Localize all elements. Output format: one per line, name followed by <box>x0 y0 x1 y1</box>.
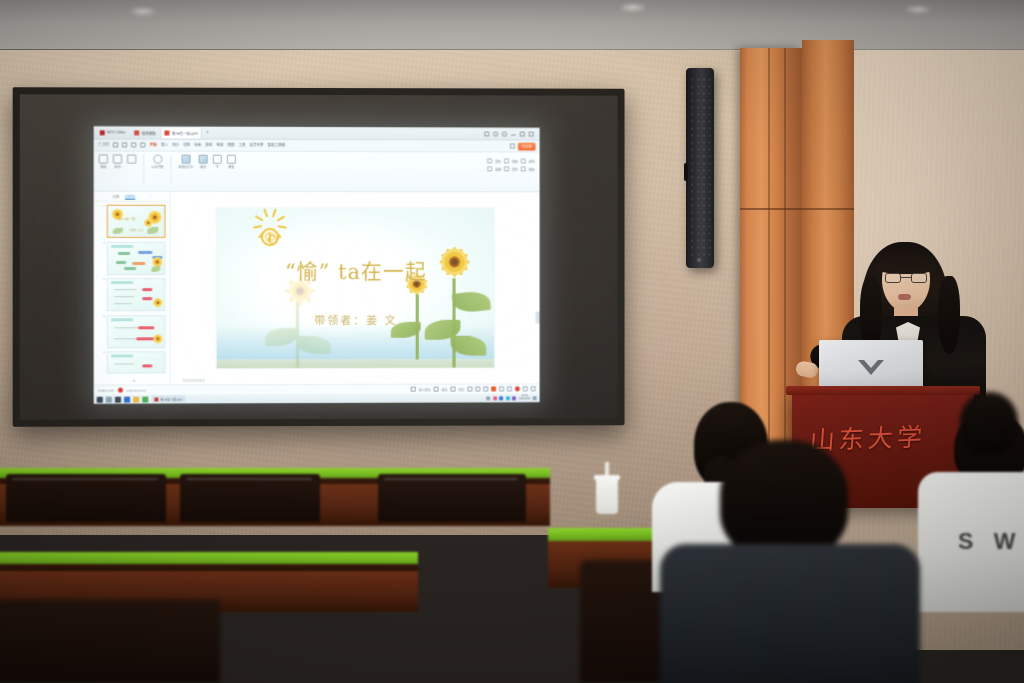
format-painter-button[interactable] <box>127 154 136 163</box>
restore-icon[interactable] <box>484 131 489 136</box>
add-slide-button[interactable]: + <box>101 377 168 385</box>
slide-number: 3 <box>101 278 105 282</box>
slideshow-icon[interactable] <box>491 386 496 391</box>
paste-icon <box>99 154 108 163</box>
slide-thumbnail-1[interactable]: “愉” ta在一起 带领者：姜 文 <box>106 205 165 238</box>
shape-icon[interactable] <box>504 166 509 171</box>
ceiling <box>0 0 1024 52</box>
ribbon-tab-member[interactable]: 会员专享 <box>249 143 263 148</box>
input-method-icon[interactable] <box>500 396 504 400</box>
taskbar-clock[interactable]: 10:41 2024/4/18 <box>519 395 530 401</box>
minimize-icon[interactable] <box>511 132 516 135</box>
ceiling-light <box>620 4 646 11</box>
chevron-down-logo <box>858 360 884 375</box>
section-button[interactable]: 节 <box>213 155 222 169</box>
cloud-sync-icon[interactable] <box>510 144 515 149</box>
laptop <box>819 340 923 392</box>
ribbon-group-slides: 新建幻灯片 版式 节 重置 <box>179 155 236 188</box>
arrange-icon[interactable] <box>521 159 526 164</box>
slide-thumbnail-4[interactable] <box>106 315 165 348</box>
window-controls <box>484 131 536 136</box>
replace-label: 替换 <box>512 159 518 163</box>
explorer-icon[interactable] <box>133 396 139 402</box>
presenter-hair-right <box>938 276 960 354</box>
comment-icon[interactable] <box>411 387 416 392</box>
taskbar-app-label: 愉 ta在一起.pptx <box>160 397 182 401</box>
account-icon[interactable] <box>502 131 507 136</box>
ribbon-group-slideshow: 从头开始 <box>151 155 163 188</box>
shape-label: 形状 <box>512 167 518 171</box>
redo-icon[interactable] <box>132 142 137 147</box>
print-icon[interactable] <box>141 142 146 147</box>
slide-number: 2 <box>101 241 105 245</box>
lecture-room-scene: WPS Office 稻壳模板 愉 ta在一起.pptx + <box>0 0 1024 683</box>
ribbon-tab-review[interactable]: 审阅 <box>216 143 223 148</box>
app-tab-label: WPS Office <box>107 130 126 134</box>
ribbon-tab-design[interactable]: 设计 <box>172 143 179 148</box>
settings-icon[interactable] <box>493 131 498 136</box>
thumbnail-title: “愉” ta在一起 <box>117 217 135 221</box>
search-icon[interactable] <box>106 396 112 402</box>
comment-label[interactable]: 插入批注 <box>419 387 431 391</box>
wall-speaker-icon <box>686 68 714 268</box>
ribbon-tab-slideshow[interactable]: 放映 <box>205 143 212 148</box>
select-icon[interactable] <box>487 166 492 171</box>
slide-number: 5 <box>101 352 105 356</box>
ribbon-group-clipboard: 粘贴 剪切 <box>99 154 136 187</box>
volume-icon[interactable] <box>493 396 497 400</box>
fill-icon[interactable] <box>521 167 526 172</box>
slide-thumbnail-2[interactable] <box>106 241 165 274</box>
ppt-icon <box>165 130 170 135</box>
fill-label: 填充 <box>529 167 535 171</box>
presenter-bangs <box>876 248 936 274</box>
ribbon-divider <box>143 155 144 185</box>
app-tab-template[interactable]: 稻壳模板 <box>132 127 159 138</box>
new-slide-icon <box>182 155 191 164</box>
slide-thumbnail-5[interactable] <box>106 351 165 373</box>
app-tab-wps[interactable]: WPS Office <box>97 127 129 138</box>
arrange-label: 排列 <box>529 159 535 163</box>
maximize-icon[interactable] <box>520 131 525 136</box>
ribbon-tab-transition[interactable]: 切换 <box>183 143 190 148</box>
slide-thumbnail-pane: 大纲 幻灯片 ‹ 1 <box>94 192 171 385</box>
ribbon-group-editing: 查找 替换 排列 选择 形状 填充 <box>487 155 535 188</box>
projected-app-window: WPS Office 稻壳模板 愉 ta在一起.pptx + <box>94 126 540 404</box>
annotation-icon[interactable] <box>450 387 455 392</box>
list-item[interactable]: 1 “愉” ta在一起 带领者：姜 文 <box>101 205 168 238</box>
zoom-out-icon[interactable] <box>499 386 504 391</box>
paste-label: 粘贴 <box>100 164 106 168</box>
speaker-knob <box>684 163 688 181</box>
wechat-icon[interactable] <box>142 396 148 402</box>
audience-student-far-right <box>960 392 1024 502</box>
zoom-in-icon[interactable] <box>507 386 512 391</box>
site-icon <box>118 388 123 393</box>
head <box>960 392 1018 454</box>
ceiling-light <box>905 6 931 13</box>
slide-subtitle: 带领者：姜 文 <box>217 312 494 328</box>
cut-label: 剪切 <box>114 164 120 168</box>
ribbon-tab-tools[interactable]: 工具 <box>238 143 245 148</box>
replace-icon[interactable] <box>504 159 509 164</box>
chevron-left-icon[interactable]: ‹ <box>150 194 151 198</box>
wps-icon <box>100 130 105 135</box>
list-item[interactable]: 3 <box>101 278 168 311</box>
layout-icon <box>199 155 208 164</box>
ribbon-tab-file[interactable]: 三 文件 <box>98 142 110 147</box>
select-label: 选择 <box>495 167 501 171</box>
new-slide-label: 新建幻灯片 <box>179 165 194 169</box>
torso <box>660 544 920 683</box>
taskview-icon[interactable] <box>115 396 121 402</box>
normal-view-icon[interactable] <box>467 386 472 391</box>
podium-top-edge <box>786 386 980 395</box>
windows-start-icon[interactable] <box>97 396 103 402</box>
sun-icon <box>253 220 287 254</box>
current-slide[interactable]: “愉” ta在一起 带领者：姜 文 <box>217 208 494 368</box>
start-slideshow-label: 从头开始 <box>151 165 163 169</box>
ceiling-light <box>130 8 156 15</box>
speaker-grill <box>689 76 711 256</box>
share-status-icon[interactable] <box>523 386 528 391</box>
share-button[interactable]: 已分享 <box>518 142 536 150</box>
projection-screen: WPS Office 稻壳模板 愉 ta在一起.pptx + <box>13 87 625 427</box>
annotation-label[interactable]: 批注 <box>458 387 464 391</box>
watermark-copyright: ©2024 1/15 <box>98 388 114 392</box>
fit-icon[interactable] <box>515 386 520 391</box>
save-icon[interactable] <box>113 142 118 147</box>
notes-placeholder[interactable]: 单击此处添加备注 <box>183 378 206 382</box>
slide-thumbnail-3[interactable] <box>106 278 165 311</box>
clock-date: 2024/4/18 <box>519 397 530 400</box>
cloud-icon[interactable] <box>506 396 510 400</box>
new-tab-button[interactable]: + <box>204 130 211 136</box>
app-tab-label: 愉 ta在一起.pptx <box>172 130 198 135</box>
ribbon-tab-view[interactable]: 视图 <box>227 143 234 148</box>
wps-icon <box>154 397 158 401</box>
ribbon-tab-insert[interactable]: 插入 <box>161 143 168 148</box>
reading-view-icon[interactable] <box>483 386 488 391</box>
reset-icon <box>227 155 236 164</box>
layout-button[interactable]: 版式 <box>199 155 208 169</box>
jacket-text: S W <box>958 528 1022 555</box>
layout-label: 版式 <box>200 165 206 169</box>
note-icon[interactable] <box>434 387 439 392</box>
slide-number: 4 <box>101 315 105 319</box>
sorter-view-icon[interactable] <box>475 386 480 391</box>
tab-outline[interactable]: 大纲 <box>112 194 119 199</box>
close-icon[interactable] <box>529 131 534 136</box>
taskbar-active-app[interactable]: 愉 ta在一起.pptx <box>151 395 185 402</box>
presenter-mouth <box>898 294 911 300</box>
cut-button[interactable]: 剪切 <box>113 154 122 168</box>
head <box>720 440 848 558</box>
list-item[interactable]: 5 <box>101 351 168 373</box>
thumbnail-subtitle: 带领者：姜 文 <box>130 228 144 232</box>
app-tab-presentation[interactable]: 愉 ta在一起.pptx <box>162 127 201 138</box>
editor-work-area: 大纲 幻灯片 ‹ 1 <box>94 192 540 385</box>
thumbnail-pane-tabs: 大纲 幻灯片 ‹ <box>94 192 170 202</box>
ribbon-tab-home[interactable]: 开始 <box>150 142 157 147</box>
speaker-led <box>697 258 701 262</box>
note-label[interactable]: 备注 <box>442 387 448 391</box>
system-tray: 10:41 2024/4/18 <box>487 395 537 401</box>
edge-icon[interactable] <box>124 396 130 402</box>
pane-collapse-handle[interactable] <box>536 312 540 324</box>
undo-icon[interactable] <box>123 142 128 147</box>
section-icon <box>213 155 222 164</box>
reset-button[interactable]: 重置 <box>227 155 236 169</box>
network-icon[interactable] <box>487 396 491 400</box>
format-painter-icon <box>127 154 136 163</box>
cut-icon <box>113 154 122 163</box>
reset-label: 重置 <box>228 165 234 169</box>
ribbon-divider <box>170 155 171 185</box>
list-item[interactable]: 2 <box>101 241 168 274</box>
paste-button[interactable]: 粘贴 <box>99 154 108 168</box>
template-icon <box>135 130 140 135</box>
find-icon[interactable] <box>487 158 492 163</box>
battery-icon[interactable] <box>512 396 516 400</box>
new-slide-button[interactable]: 新建幻灯片 <box>179 155 194 169</box>
notification-icon[interactable] <box>533 396 537 400</box>
slide-title: “愉” ta在一起 <box>217 256 494 286</box>
play-icon <box>153 155 162 164</box>
windows-taskbar: 愉 ta在一起.pptx 10:41 2024/4/18 <box>94 393 540 404</box>
list-item[interactable]: 4 <box>101 315 168 348</box>
section-label: 节 <box>216 165 219 169</box>
app-tab-label: 稻壳模板 <box>142 130 156 135</box>
cloud-status-icon[interactable] <box>531 386 536 391</box>
ribbon-tab-animation[interactable]: 动画 <box>194 143 201 148</box>
tab-slides[interactable]: 幻灯片 <box>125 193 135 199</box>
status-bar-right: 插入批注 备注 批注 <box>411 386 536 391</box>
ribbon-toolbar: 粘贴 剪切 从头开始 <box>94 151 540 192</box>
ribbon-tab-toolbox[interactable]: 智能工具箱 <box>267 143 285 148</box>
thumbnail-list: 1 “愉” ta在一起 带领者：姜 文 <box>94 202 170 385</box>
slide-edit-pane: “愉” ta在一起 带领者：姜 文 单击此处添加备注 <box>170 192 539 385</box>
watermark-site: www.1ppt.com <box>127 388 147 392</box>
find-label: 查找 <box>495 159 501 163</box>
glasses-icon <box>885 273 927 283</box>
slide-number: 1 <box>101 205 105 209</box>
audience-student-foreground <box>660 440 960 683</box>
start-slideshow-button[interactable]: 从头开始 <box>151 155 163 169</box>
